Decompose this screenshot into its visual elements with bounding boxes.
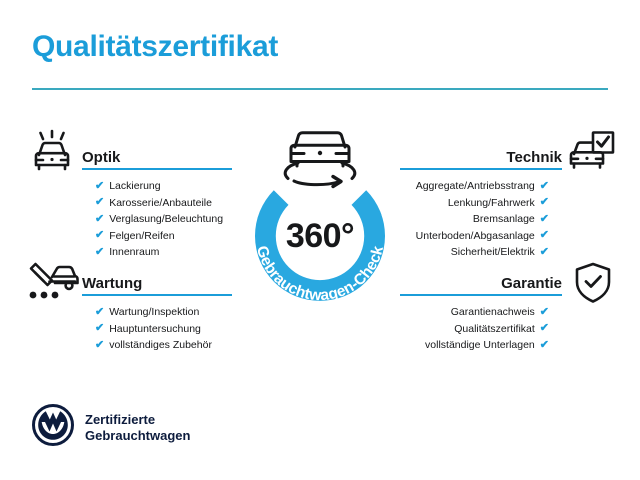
car-shine-icon: [26, 129, 78, 180]
section-technik-head: Technik: [400, 142, 562, 170]
section-optik-divider: [82, 168, 232, 170]
wrench-car-icon: [24, 259, 80, 308]
list-item-label: Innenraum: [109, 244, 159, 261]
page-title: Qualitätszertifikat: [32, 30, 278, 64]
list-item-label: Hauptuntersuchung: [109, 321, 201, 338]
vw-certified-lockup: Zertifizierte Gebrauchtwagen: [32, 404, 190, 451]
vw-lockup-line2: Gebrauchtwagen: [85, 428, 190, 444]
car-rotate-360-icon: [285, 133, 355, 187]
list-item-label: Aggregate/Antriebsstrang: [416, 178, 535, 195]
list-item-label: Verglasung/Beleuchtung: [109, 211, 223, 228]
vw-lockup-text: Zertifizierte Gebrauchtwagen: [85, 412, 190, 444]
list-item-label: Felgen/Reifen: [109, 228, 174, 245]
list-item-label: Wartung/Inspektion: [109, 304, 199, 321]
list-item: ✔Karosserie/Anbauteile: [95, 195, 232, 212]
list-item: Qualitätszertifikat✔: [400, 321, 549, 338]
check-icon: ✔: [95, 323, 104, 334]
shield-check-icon: [572, 261, 614, 310]
list-item-label: Qualitätszertifikat: [454, 321, 535, 338]
section-technik-list: Aggregate/Antriebsstrang✔ Lenkung/Fahrwe…: [400, 178, 562, 261]
list-item-label: vollständiges Zubehör: [109, 337, 212, 354]
check-icon: ✔: [95, 181, 104, 192]
check-icon: ✔: [540, 340, 549, 351]
check-icon: ✔: [540, 197, 549, 208]
list-item-label: Unterboden/Abgasanlage: [416, 228, 535, 245]
section-wartung: Wartung ✔Wartung/Inspektion ✔Hauptunters…: [82, 268, 232, 354]
badge-artwork: Gebrauchtwagen-Check: [228, 118, 412, 314]
list-item-label: Sicherheit/Elektrik: [451, 244, 535, 261]
check-icon: ✔: [540, 307, 549, 318]
section-wartung-list: ✔Wartung/Inspektion ✔Hauptuntersuchung ✔…: [82, 304, 232, 354]
check-icon: ✔: [95, 230, 104, 241]
check-icon: ✔: [95, 307, 104, 318]
section-technik-title: Technik: [506, 149, 562, 166]
check-icon: ✔: [95, 197, 104, 208]
section-optik: Optik ✔Lackierung ✔Karosserie/Anbauteile…: [82, 142, 232, 261]
section-garantie-divider: [400, 294, 562, 296]
list-item: ✔Innenraum: [95, 244, 232, 261]
car-checkbox-icon: [566, 130, 616, 179]
vw-logo: [32, 404, 74, 451]
section-optik-list: ✔Lackierung ✔Karosserie/Anbauteile ✔Verg…: [82, 178, 232, 261]
list-item: ✔Hauptuntersuchung: [95, 321, 232, 338]
section-wartung-divider: [82, 294, 232, 296]
section-technik: Technik Aggregate/Antriebsstrang✔ Lenkun…: [400, 142, 562, 261]
section-optik-title: Optik: [82, 149, 120, 166]
title-divider: [32, 88, 608, 90]
check-icon: ✔: [540, 214, 549, 225]
list-item: Aggregate/Antriebsstrang✔: [400, 178, 549, 195]
list-item: ✔Wartung/Inspektion: [95, 304, 232, 321]
section-wartung-title: Wartung: [82, 275, 142, 292]
list-item-label: Karosserie/Anbauteile: [109, 195, 212, 212]
section-optik-head: Optik: [82, 142, 232, 170]
section-garantie-list: Garantienachweis✔ Qualitätszertifikat✔ v…: [400, 304, 562, 354]
check-icon: ✔: [95, 340, 104, 351]
list-item: Garantienachweis✔: [400, 304, 549, 321]
list-item-label: Lackierung: [109, 178, 160, 195]
check-icon: ✔: [540, 247, 549, 258]
check-icon: ✔: [95, 247, 104, 258]
vw-lockup-line1: Zertifizierte: [85, 412, 190, 428]
list-item: ✔Lackierung: [95, 178, 232, 195]
list-item: Sicherheit/Elektrik✔: [400, 244, 549, 261]
list-item-label: Bremsanlage: [473, 211, 535, 228]
section-garantie-title: Garantie: [501, 275, 562, 292]
check-icon: ✔: [540, 181, 549, 192]
check-icon: ✔: [540, 323, 549, 334]
list-item: Bremsanlage✔: [400, 211, 549, 228]
list-item: ✔Felgen/Reifen: [95, 228, 232, 245]
list-item-label: vollständige Unterlagen: [425, 337, 535, 354]
list-item: ✔vollständiges Zubehör: [95, 337, 232, 354]
list-item: ✔Verglasung/Beleuchtung: [95, 211, 232, 228]
badge-360-gebrauchtwagen-check: Gebrauchtwagen-Check 360°: [228, 118, 412, 314]
section-garantie-head: Garantie: [400, 268, 562, 296]
section-wartung-head: Wartung: [82, 268, 232, 296]
list-item-label: Garantienachweis: [451, 304, 535, 321]
certificate-page: Qualitätszertifikat Optik ✔Lackierung ✔K…: [0, 0, 640, 480]
list-item: Unterboden/Abgasanlage✔: [400, 228, 549, 245]
check-icon: ✔: [95, 214, 104, 225]
section-technik-divider: [400, 168, 562, 170]
list-item: vollständige Unterlagen✔: [400, 337, 549, 354]
list-item-label: Lenkung/Fahrwerk: [448, 195, 535, 212]
list-item: Lenkung/Fahrwerk✔: [400, 195, 549, 212]
section-garantie: Garantie Garantienachweis✔ Qualitätszert…: [400, 268, 562, 354]
check-icon: ✔: [540, 230, 549, 241]
